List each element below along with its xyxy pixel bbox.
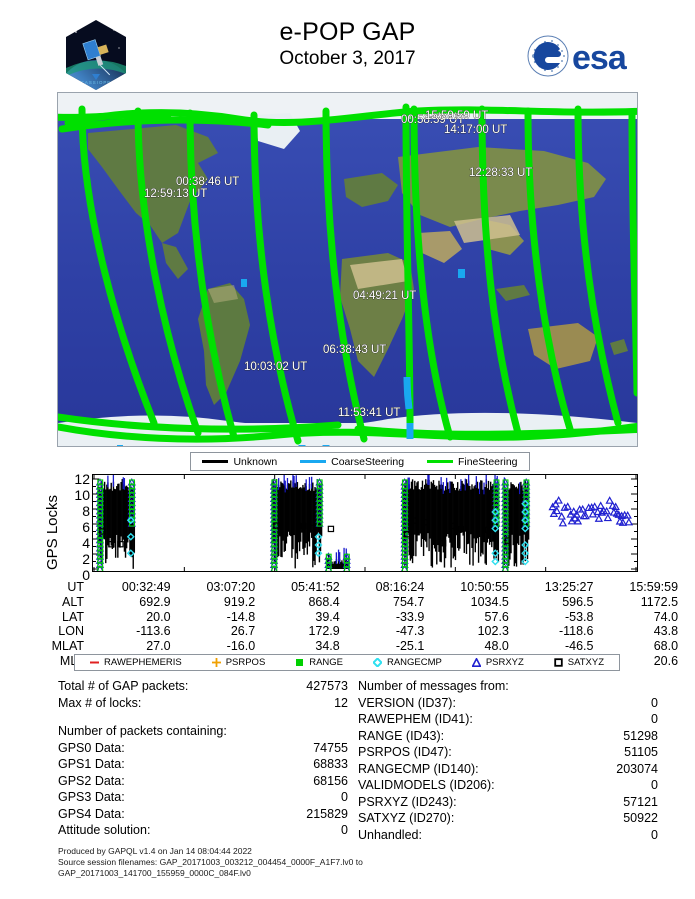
lon-0: -113.6	[88, 624, 173, 639]
stat-gps1: GPS1 Data: 68833	[58, 756, 348, 773]
row-key-lat: LAT	[40, 610, 88, 625]
psrpos-label: PSRPOS (ID47):	[358, 744, 562, 761]
row-key-ut: UT	[40, 580, 88, 595]
legend-label-rangecmp: RANGECMP	[387, 657, 442, 668]
ytick-10: 10	[74, 488, 90, 502]
gps3-label: GPS3 Data:	[58, 789, 252, 806]
svg-text:00:38:46 UT: 00:38:46 UT	[176, 176, 239, 188]
mlat-0: 27.0	[88, 639, 173, 654]
mlat-2: 34.8	[257, 639, 342, 654]
stat-attitude: Attitude solution: 0	[58, 822, 348, 839]
unhandled-label: Unhandled:	[358, 827, 562, 844]
legend-item-finesteering: FineSteering	[427, 456, 518, 468]
table-row-mlat: MLAT 27.0 -16.0 34.8 -25.1 48.0 -46.5 68…	[40, 639, 680, 654]
legend-item-range: RANGE	[295, 657, 343, 668]
legend-label-rawephemeris: RAWEPHEMERIS	[104, 657, 182, 668]
gps1-value: 68833	[252, 756, 348, 773]
svg-text:04:49:21 UT: 04:49:21 UT	[353, 290, 416, 302]
footer-produced-by: Produced by GAPQL v1.4 on Jan 14 08:04:4…	[58, 846, 658, 857]
lon-1: 26.7	[173, 624, 258, 639]
coarsesteering-line-icon	[300, 460, 326, 463]
psrxyz-label: PSRXYZ (ID243):	[358, 794, 562, 811]
world-map-ground-track: 00:38:46 UT 12:59:13 UT 00:58:59 UT 15:5…	[57, 92, 638, 447]
mlat-6: 68.0	[595, 639, 680, 654]
lat-6: 74.0	[595, 610, 680, 625]
gps2-value: 68156	[252, 773, 348, 790]
legend-label-range: RANGE	[309, 657, 343, 668]
stat-gps2: GPS2 Data: 68156	[58, 773, 348, 790]
legend-label-psrxyz: PSRXYZ	[486, 657, 524, 668]
ut-3: 08:16:24	[342, 580, 427, 595]
svg-text:11:53:41 UT: 11:53:41 UT	[338, 407, 400, 419]
rawephem-label: RAWEPHEM (ID41):	[358, 711, 562, 728]
lat-4: 57.6	[426, 610, 511, 625]
gps2-label: GPS2 Data:	[58, 773, 252, 790]
gps-locks-plot	[92, 474, 638, 572]
legend-item-rangecmp: RANGECMP	[373, 657, 442, 668]
version-value: 0	[562, 695, 658, 712]
lat-3: -33.9	[342, 610, 427, 625]
gps0-label: GPS0 Data:	[58, 740, 252, 757]
ytick-12: 12	[74, 472, 90, 486]
validmodels-value: 0	[562, 777, 658, 794]
svg-text:10:03:02 UT: 10:03:02 UT	[244, 361, 307, 373]
footer-source-line1: Source session filenames: GAP_20171003_0…	[58, 857, 658, 868]
legend-label-satxyz: SATXYZ	[568, 657, 604, 668]
psrxyz-value: 57121	[562, 794, 658, 811]
attitude-value: 0	[252, 822, 348, 839]
unhandled-value: 0	[562, 827, 658, 844]
provenance-footer: Produced by GAPQL v1.4 on Jan 14 08:04:4…	[58, 846, 658, 879]
total-packets-label: Total # of GAP packets:	[58, 678, 252, 695]
mlat-3: -25.1	[342, 639, 427, 654]
table-row-alt: ALT 692.9 919.2 868.4 754.7 1034.5 596.5…	[40, 595, 680, 610]
gps0-value: 74755	[252, 740, 348, 757]
lat-0: 20.0	[88, 610, 173, 625]
ut-0: 00:32:49	[88, 580, 173, 595]
satxyz-label: SATXYZ (ID270):	[358, 810, 562, 827]
stat-unhandled: Unhandled: 0	[358, 827, 658, 844]
stat-version: VERSION (ID37): 0	[358, 695, 658, 712]
lon-4: 102.3	[426, 624, 511, 639]
rangecmp-label: RANGECMP (ID140):	[358, 761, 562, 778]
spacer	[58, 711, 348, 723]
stat-validmodels: VALIDMODELS (ID206): 0	[358, 777, 658, 794]
legend-item-psrxyz: PSRXYZ	[472, 657, 524, 668]
svg-text:06:38:43 UT: 06:38:43 UT	[323, 344, 386, 356]
attitude-label: Attitude solution:	[58, 822, 252, 839]
table-row-ut: UT 00:32:49 03:07:20 05:41:52 08:16:24 1…	[40, 580, 680, 595]
stat-gps3: GPS3 Data: 0	[58, 789, 348, 806]
legend-label-finesteering: FineSteering	[458, 456, 518, 468]
svg-text:CASSIOPE: CASSIOPE	[81, 80, 111, 85]
version-label: VERSION (ID37):	[358, 695, 562, 712]
lat-1: -14.8	[173, 610, 258, 625]
triangle-marker-icon	[472, 658, 481, 667]
row-key-alt: ALT	[40, 595, 88, 610]
stat-gps0: GPS0 Data: 74755	[58, 740, 348, 757]
gps3-value: 0	[252, 789, 348, 806]
svg-text:12:59:13 UT: 12:59:13 UT	[144, 188, 207, 200]
lon-5: -118.6	[511, 624, 596, 639]
packets-containing-header: Number of packets containing:	[58, 723, 348, 740]
stat-psrxyz: PSRXYZ (ID243): 57121	[358, 794, 658, 811]
mlat-1: -16.0	[173, 639, 258, 654]
lon-3: -47.3	[342, 624, 427, 639]
stat-psrpos: PSRPOS (ID47): 51105	[358, 744, 658, 761]
stat-satxyz: SATXYZ (ID270): 50922	[358, 810, 658, 827]
message-statistics-column: Number of messages from: VERSION (ID37):…	[358, 678, 658, 843]
lat-5: -53.8	[511, 610, 596, 625]
mlat-4: 48.0	[426, 639, 511, 654]
svg-text:15:59:59 UT: 15:59:59 UT	[425, 110, 488, 122]
ut-4: 10:50:55	[426, 580, 511, 595]
lon-2: 172.9	[257, 624, 342, 639]
ytick-8: 8	[82, 504, 90, 518]
ytick-2: 2	[82, 552, 90, 566]
ut-2: 05:41:52	[257, 580, 342, 595]
alt-1: 919.2	[173, 595, 258, 610]
ytick-4: 4	[82, 536, 90, 550]
alt-4: 1034.5	[426, 595, 511, 610]
ut-1: 03:07:20	[173, 580, 258, 595]
lon-6: 43.8	[595, 624, 680, 639]
plus-marker-icon	[212, 658, 221, 667]
rawephem-value: 0	[562, 711, 658, 728]
footer-source-line2: GAP_20171003_141700_155959_0000C_084F.lv…	[58, 868, 658, 879]
legend-item-coarsesteering: CoarseSteering	[300, 456, 404, 468]
table-row-lon: LON -113.6 26.7 172.9 -47.3 102.3 -118.6…	[40, 624, 680, 639]
diamond-marker-icon	[373, 658, 382, 667]
legend-label-unknown: Unknown	[233, 456, 277, 468]
message-type-legend: RAWEPHEMERIS PSRPOS RANGE RANGECMP PSRXY…	[74, 654, 620, 671]
total-packets-value: 427573	[252, 678, 348, 695]
stat-max-locks: Max # of locks: 12	[58, 695, 348, 712]
steering-legend: Unknown CoarseSteering FineSteering	[190, 452, 530, 471]
legend-label-psrpos: PSRPOS	[226, 657, 266, 668]
open-square-marker-icon	[554, 658, 563, 667]
range-label: RANGE (ID43):	[358, 728, 562, 745]
stat-rawephem: RAWEPHEM (ID41): 0	[358, 711, 658, 728]
legend-item-unknown: Unknown	[202, 456, 277, 468]
row-key-lon: LON	[40, 624, 88, 639]
plot-y-tick-labels: 12 10 8 6 4 2 0	[62, 468, 90, 578]
legend-item-psrpos: PSRPOS	[212, 657, 266, 668]
max-locks-label: Max # of locks:	[58, 695, 252, 712]
svg-text:12:28:33 UT: 12:28:33 UT	[469, 167, 532, 179]
filled-square-marker-icon	[295, 658, 304, 667]
alt-0: 692.9	[88, 595, 173, 610]
stat-total-packets: Total # of GAP packets: 427573	[58, 678, 348, 695]
finesteering-line-icon	[427, 460, 453, 463]
esa-logo-icon: esa	[524, 32, 646, 80]
gps4-label: GPS4 Data:	[58, 806, 252, 823]
alt-5: 596.5	[511, 595, 596, 610]
stat-rangecmp: RANGECMP (ID140): 203074	[358, 761, 658, 778]
alt-3: 754.7	[342, 595, 427, 610]
psrpos-value: 51105	[562, 744, 658, 761]
gps1-label: GPS1 Data:	[58, 756, 252, 773]
ut-5: 13:25:27	[511, 580, 596, 595]
ut-6: 15:59:59	[595, 580, 680, 595]
validmodels-label: VALIDMODELS (ID206):	[358, 777, 562, 794]
stat-range: RANGE (ID43): 51298	[358, 728, 658, 745]
max-locks-value: 12	[252, 695, 348, 712]
ytick-6: 6	[82, 520, 90, 534]
dash-marker-icon	[90, 658, 99, 667]
alt-6: 1172.5	[595, 595, 680, 610]
gps4-value: 215829	[252, 806, 348, 823]
rangecmp-value: 203074	[562, 761, 658, 778]
messages-from-header: Number of messages from:	[358, 678, 658, 695]
packet-statistics-column: Total # of GAP packets: 427573 Max # of …	[58, 678, 348, 839]
svg-text:14:17:00 UT: 14:17:00 UT	[444, 124, 507, 136]
stat-gps4: GPS4 Data: 215829	[58, 806, 348, 823]
table-row-lat: LAT 20.0 -14.8 39.4 -33.9 57.6 -53.8 74.…	[40, 610, 680, 625]
range-value: 51298	[562, 728, 658, 745]
legend-item-satxyz: SATXYZ	[554, 657, 604, 668]
legend-label-coarsesteering: CoarseSteering	[331, 456, 404, 468]
alt-2: 868.4	[257, 595, 342, 610]
mlat-5: -46.5	[511, 639, 596, 654]
page-header: CASSIOPE e-POP GAP October 3, 2017	[0, 0, 695, 92]
lat-2: 39.4	[257, 610, 342, 625]
svg-text:esa: esa	[572, 39, 628, 77]
statistics-section: Total # of GAP packets: 427573 Max # of …	[0, 678, 695, 838]
unknown-line-icon	[202, 460, 228, 463]
legend-item-rawephemeris: RAWEPHEMERIS	[90, 657, 182, 668]
satxyz-value: 50922	[562, 810, 658, 827]
row-key-mlat: MLAT	[40, 639, 88, 654]
